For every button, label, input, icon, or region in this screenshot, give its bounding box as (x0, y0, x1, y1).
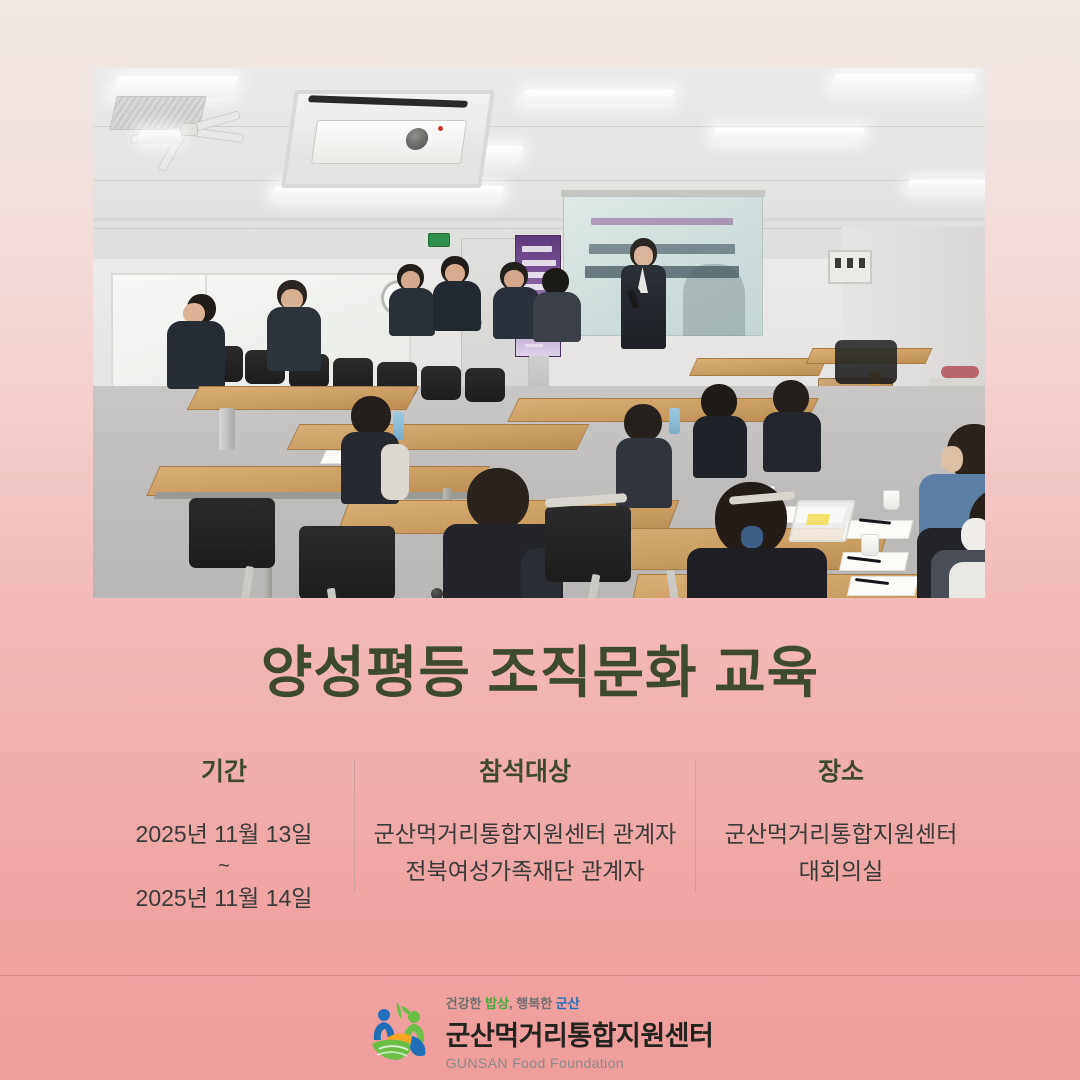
logo-brand-korean: 군산먹거리통합지원센터 (446, 1014, 714, 1053)
ceiling-light (711, 128, 864, 141)
presenter (617, 238, 669, 348)
foundation-logo-icon (367, 1000, 433, 1064)
footer-divider (0, 975, 1080, 976)
chair (189, 498, 275, 568)
detail-column-location: 장소 군산먹거리통합지원센터 대회의실 (696, 752, 986, 891)
period-start: 2025년 11월 13일 (94, 816, 354, 853)
footer: 건강한 밥상, 행복한 군산 군산먹거리통합지원센터 GUNSAN Food F… (0, 983, 1080, 1080)
detail-columns: 기간 2025년 11월 13일 ~ 2025년 11월 14일 참석대상 군산… (0, 752, 1080, 942)
wall-power-panel (828, 250, 872, 284)
attendee-line-1: 군산먹거리통합지원센터 관계자 (355, 816, 695, 853)
chair (835, 340, 897, 384)
detail-heading-attendees: 참석대상 (355, 752, 695, 788)
ceiling-light (831, 74, 976, 90)
detail-heading-period: 기간 (94, 752, 354, 788)
logo-tagline: 건강한 밥상, 행복한 군산 (446, 993, 714, 1012)
page-title: 양성평등 조직문화 교육 (0, 628, 1080, 709)
period-tilde: ~ (94, 853, 354, 880)
water-bottle (669, 408, 680, 434)
tagline-part-3: , 행복한 (509, 996, 556, 1011)
photo-scene (93, 68, 985, 598)
ceiling-projector (288, 90, 488, 188)
paper-cup (883, 490, 900, 510)
logo-brand-english: GUNSAN Food Foundation (446, 1055, 714, 1071)
chair (299, 526, 395, 598)
chair (545, 506, 631, 582)
detail-column-period: 기간 2025년 11월 13일 ~ 2025년 11월 14일 (94, 752, 354, 918)
attendee-line-2: 전북여성가족재단 관계자 (355, 853, 695, 890)
screen-line-1 (591, 218, 733, 225)
location-line-1: 군산먹거리통합지원센터 (696, 816, 986, 853)
table (287, 424, 590, 450)
ceiling-fan (128, 106, 248, 152)
tagline-part-1: 건강한 (446, 996, 486, 1011)
event-photo (93, 68, 985, 598)
period-end: 2025년 11월 14일 (94, 880, 354, 917)
thermos (219, 408, 235, 450)
detail-body-period: 2025년 11월 13일 ~ 2025년 11월 14일 (94, 816, 354, 918)
exit-sign-icon (428, 233, 450, 247)
detail-heading-location: 장소 (696, 752, 986, 788)
detail-body-location: 군산먹거리통합지원센터 대회의실 (696, 816, 986, 891)
tagline-part-2: 밥상 (485, 996, 509, 1011)
column-divider-1 (354, 760, 355, 892)
detail-column-attendees: 참석대상 군산먹거리통합지원센터 관계자 전북여성가족재단 관계자 (355, 752, 695, 891)
location-line-2: 대회의실 (696, 853, 986, 890)
foundation-logo-text: 건강한 밥상, 행복한 군산 군산먹거리통합지원센터 GUNSAN Food F… (446, 993, 714, 1071)
detail-body-attendees: 군산먹거리통합지원센터 관계자 전북여성가족재단 관계자 (355, 816, 695, 891)
ceiling-light (907, 180, 985, 191)
tagline-part-4: 군산 (556, 996, 580, 1011)
ceiling-light (521, 90, 675, 104)
ceiling-light (111, 76, 240, 98)
column-divider-2 (695, 760, 696, 892)
paper-cup (861, 534, 879, 556)
